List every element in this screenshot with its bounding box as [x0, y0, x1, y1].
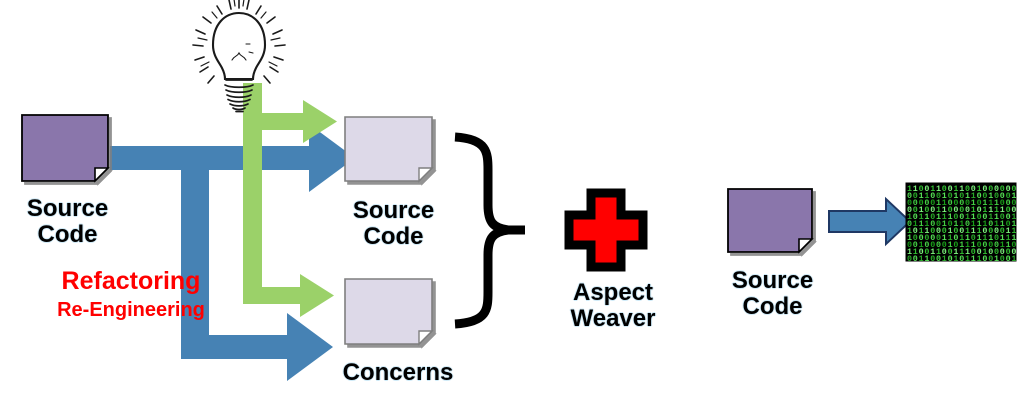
svg-text:0: 0	[913, 254, 918, 264]
blue-stem	[181, 146, 209, 359]
svg-text:0: 0	[936, 254, 941, 264]
svg-text:0: 0	[930, 254, 935, 264]
svg-text:0: 0	[982, 254, 987, 264]
svg-text:0: 0	[1000, 254, 1005, 264]
svg-text:1: 1	[919, 254, 924, 264]
diagram-graphics: 1100110011001000000001100101011001000100…	[0, 0, 1028, 420]
label-source-code-output: Source Code	[326, 198, 461, 250]
label-re-engineering: Re-Engineering	[22, 300, 240, 321]
blue-upper-branch	[110, 124, 355, 192]
green-split-arrow	[243, 83, 337, 317]
binary-code-icon: 1100110011001000000001100101011001000100…	[906, 183, 1016, 264]
compile-arrow	[829, 199, 910, 244]
document-icon-concerns	[345, 279, 432, 344]
label-refactoring: Refactoring	[36, 268, 226, 294]
blue-split-arrow	[110, 124, 355, 381]
svg-text:1: 1	[971, 254, 976, 264]
svg-text:1: 1	[965, 254, 970, 264]
label-source-code-input: Source Code	[0, 196, 135, 248]
svg-text:1: 1	[994, 254, 999, 264]
plus-cross-icon	[569, 193, 643, 267]
svg-text:0: 0	[959, 254, 964, 264]
grouping-brace	[455, 137, 525, 324]
svg-text:0: 0	[907, 254, 912, 264]
svg-text:0: 0	[1006, 254, 1011, 264]
svg-text:1: 1	[1011, 254, 1016, 264]
document-icon-source-code-output	[345, 117, 432, 181]
label-aspect-weaver: Aspect Weaver	[538, 280, 688, 332]
document-icon-source-code-input	[22, 115, 108, 181]
document-icon-woven-source-code	[728, 189, 812, 252]
label-woven-source-code: Source Code	[705, 268, 840, 320]
svg-text:1: 1	[953, 254, 958, 264]
lightbulb-icon	[193, 0, 285, 112]
svg-text:1: 1	[924, 254, 929, 264]
svg-text:1: 1	[977, 254, 982, 264]
svg-text:0: 0	[988, 254, 993, 264]
green-stem	[243, 83, 262, 304]
label-concerns: Concerns	[318, 360, 478, 386]
svg-text:1: 1	[942, 254, 947, 264]
svg-text:0: 0	[948, 254, 953, 264]
blue-lower-branch	[110, 146, 333, 381]
diagram-canvas: 1100110011001000000001100101011001000100…	[0, 0, 1028, 420]
